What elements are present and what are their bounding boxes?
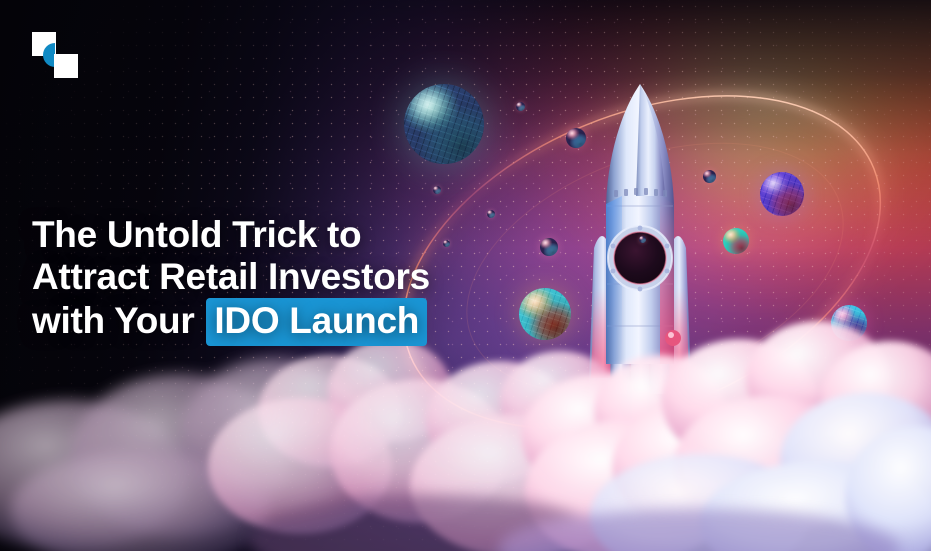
bubble-f (433, 186, 441, 194)
sphere-shadow (516, 102, 525, 111)
logo-square-bottom (54, 54, 78, 78)
disco-ball-teal (404, 84, 484, 164)
bubble-a (566, 128, 586, 148)
sphere-shadow (566, 128, 586, 148)
headline-line-3: with Your IDO Launch (32, 298, 462, 346)
bubble-g (487, 210, 495, 218)
headline-line-3-prefix: with Your (32, 300, 194, 341)
sphere-shadow (540, 238, 558, 256)
bubble-e (516, 102, 525, 111)
sphere-shadow (760, 172, 804, 216)
headline-highlight: IDO Launch (206, 298, 427, 346)
company-logo[interactable] (32, 32, 78, 78)
headline-line-1: The Untold Trick to (32, 214, 462, 256)
promo-banner: The Untold Trick to Attract Retail Inves… (0, 0, 931, 551)
sphere-shadow (487, 210, 495, 218)
bubble-c (723, 228, 749, 254)
disco-ball-violet (760, 172, 804, 216)
sphere-shadow (639, 236, 646, 243)
headline-line-2: Attract Retail Investors (32, 256, 462, 298)
sphere-shadow (723, 228, 749, 254)
bubble-d (703, 170, 716, 183)
sphere-shadow (433, 186, 441, 194)
sphere-shadow (703, 170, 716, 183)
sphere-shadow (404, 84, 484, 164)
bubble-b (540, 238, 558, 256)
bubble-k (639, 236, 646, 243)
headline: The Untold Trick to Attract Retail Inves… (32, 214, 462, 346)
